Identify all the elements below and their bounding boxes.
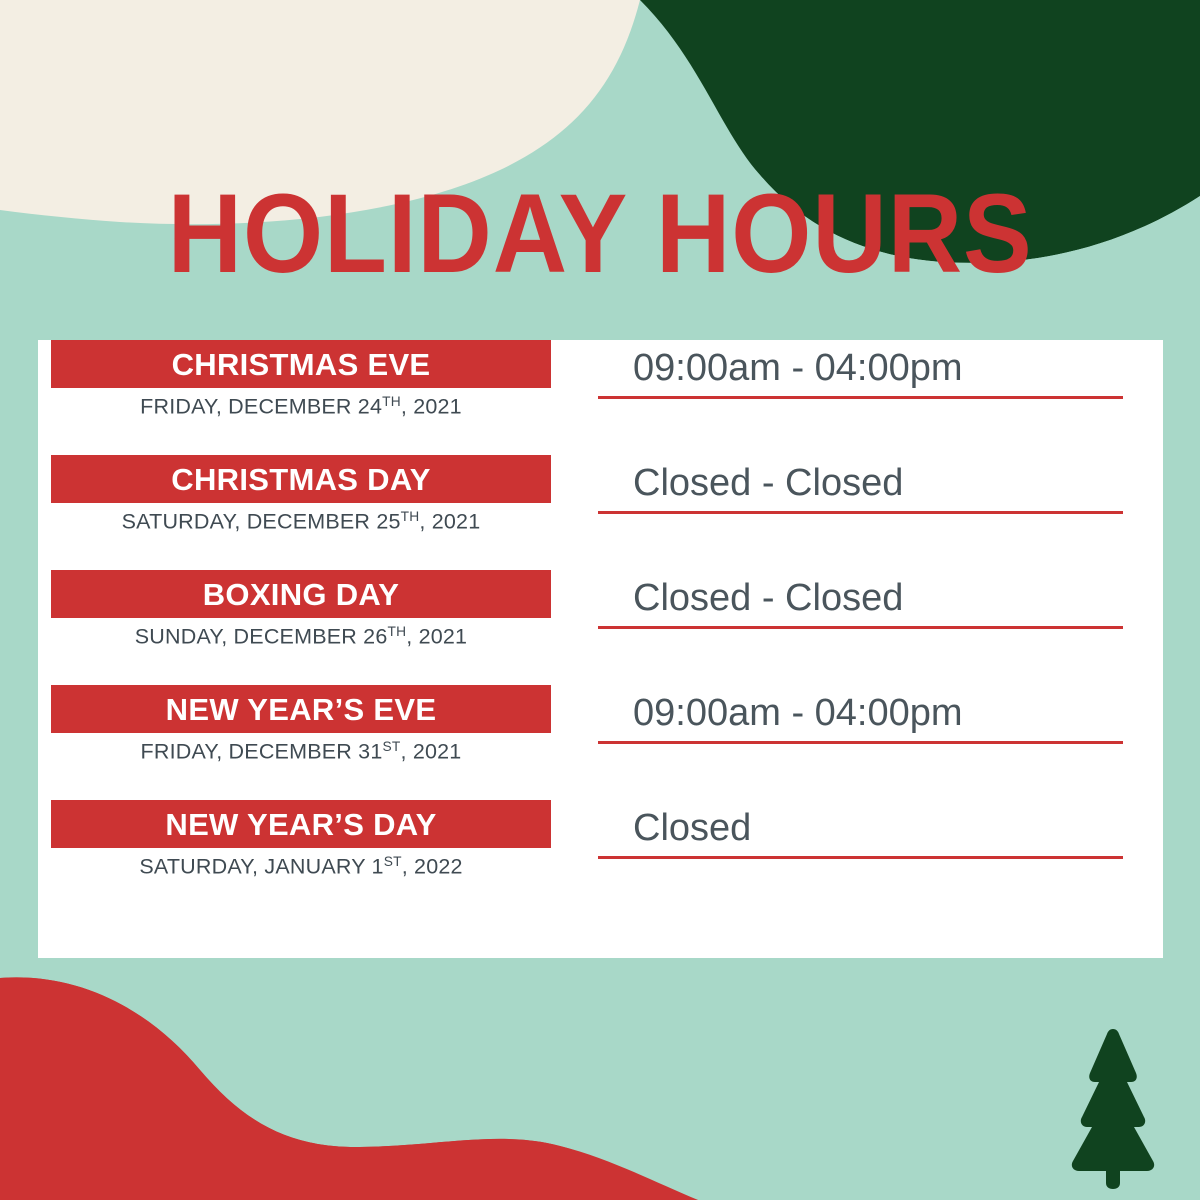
- holiday-label-bar: CHRISTMAS DAY: [51, 455, 551, 503]
- holiday-name: BOXING DAY: [203, 579, 400, 610]
- holiday-hours: 09:00am - 04:00pm: [598, 340, 1123, 396]
- holiday-date-prefix: FRIDAY, DECEMBER 24: [140, 395, 382, 419]
- holiday-date: SATURDAY, JANUARY 1ST, 2022: [51, 855, 551, 878]
- schedule-rows: CHRISTMAS EVE FRIDAY, DECEMBER 24TH, 202…: [38, 340, 1163, 915]
- holiday-date-year: , 2021: [406, 625, 467, 649]
- holiday-date-year: , 2021: [401, 395, 462, 419]
- holiday-label-bar: BOXING DAY: [51, 570, 551, 618]
- hours-column: 09:00am - 04:00pm: [598, 685, 1123, 744]
- hours-underline: [598, 741, 1123, 744]
- table-row: BOXING DAY SUNDAY, DECEMBER 26TH, 2021 C…: [38, 570, 1163, 685]
- table-row: NEW YEAR’S DAY SATURDAY, JANUARY 1ST, 20…: [38, 800, 1163, 915]
- holiday-name: CHRISTMAS EVE: [172, 349, 431, 380]
- table-row: CHRISTMAS EVE FRIDAY, DECEMBER 24TH, 202…: [38, 340, 1163, 455]
- hours-underline: [598, 626, 1123, 629]
- schedule-card: CHRISTMAS EVE FRIDAY, DECEMBER 24TH, 202…: [38, 340, 1163, 958]
- holiday-hours: 09:00am - 04:00pm: [598, 685, 1123, 741]
- table-row: CHRISTMAS DAY SATURDAY, DECEMBER 25TH, 2…: [38, 455, 1163, 570]
- hours-column: 09:00am - 04:00pm: [598, 340, 1123, 399]
- hours-column: Closed - Closed: [598, 570, 1123, 629]
- holiday-date-ordinal: TH: [388, 624, 407, 639]
- holiday-label-column: NEW YEAR’S EVE FRIDAY, DECEMBER 31ST, 20…: [51, 685, 551, 763]
- holiday-label-column: CHRISTMAS EVE FRIDAY, DECEMBER 24TH, 202…: [51, 340, 551, 418]
- holiday-label-bar: NEW YEAR’S EVE: [51, 685, 551, 733]
- hours-column: Closed: [598, 800, 1123, 859]
- holiday-label-bar: CHRISTMAS EVE: [51, 340, 551, 388]
- holiday-label-column: NEW YEAR’S DAY SATURDAY, JANUARY 1ST, 20…: [51, 800, 551, 878]
- title-container: HOLIDAY HOURS: [0, 178, 1200, 290]
- holiday-date-prefix: SATURDAY, DECEMBER 25: [122, 510, 401, 534]
- holiday-label-bar: NEW YEAR’S DAY: [51, 800, 551, 848]
- holiday-date-prefix: SATURDAY, JANUARY 1: [139, 855, 383, 879]
- hours-underline: [598, 856, 1123, 859]
- holiday-hours: Closed - Closed: [598, 570, 1123, 626]
- holiday-hours: Closed - Closed: [598, 455, 1123, 511]
- holiday-date-prefix: FRIDAY, DECEMBER 31: [141, 740, 383, 764]
- holiday-date: SATURDAY, DECEMBER 25TH, 2021: [51, 510, 551, 533]
- holiday-name: NEW YEAR’S EVE: [166, 694, 437, 725]
- hours-underline: [598, 396, 1123, 399]
- holiday-date-year: , 2021: [419, 510, 480, 534]
- hours-underline: [598, 511, 1123, 514]
- holiday-name: NEW YEAR’S DAY: [165, 809, 436, 840]
- holiday-date: FRIDAY, DECEMBER 31ST, 2021: [51, 740, 551, 763]
- page-title: HOLIDAY HOURS: [167, 178, 1032, 290]
- holiday-date-year: , 2021: [400, 740, 461, 764]
- christmas-tree-icon: [1058, 1025, 1168, 1190]
- holiday-date-ordinal: TH: [382, 394, 401, 409]
- holiday-date-ordinal: ST: [383, 739, 401, 754]
- holiday-date: FRIDAY, DECEMBER 24TH, 2021: [51, 395, 551, 418]
- holiday-date: SUNDAY, DECEMBER 26TH, 2021: [51, 625, 551, 648]
- table-row: NEW YEAR’S EVE FRIDAY, DECEMBER 31ST, 20…: [38, 685, 1163, 800]
- holiday-label-column: BOXING DAY SUNDAY, DECEMBER 26TH, 2021: [51, 570, 551, 648]
- holiday-date-prefix: SUNDAY, DECEMBER 26: [135, 625, 388, 649]
- holiday-label-column: CHRISTMAS DAY SATURDAY, DECEMBER 25TH, 2…: [51, 455, 551, 533]
- holiday-hours-poster: HOLIDAY HOURS CHRISTMAS EVE FRIDAY, DECE…: [0, 0, 1200, 1200]
- holiday-hours: Closed: [598, 800, 1123, 856]
- holiday-name: CHRISTMAS DAY: [171, 464, 430, 495]
- holiday-date-ordinal: TH: [401, 509, 420, 524]
- hours-column: Closed - Closed: [598, 455, 1123, 514]
- holiday-date-year: , 2022: [402, 855, 463, 879]
- holiday-date-ordinal: ST: [384, 854, 402, 869]
